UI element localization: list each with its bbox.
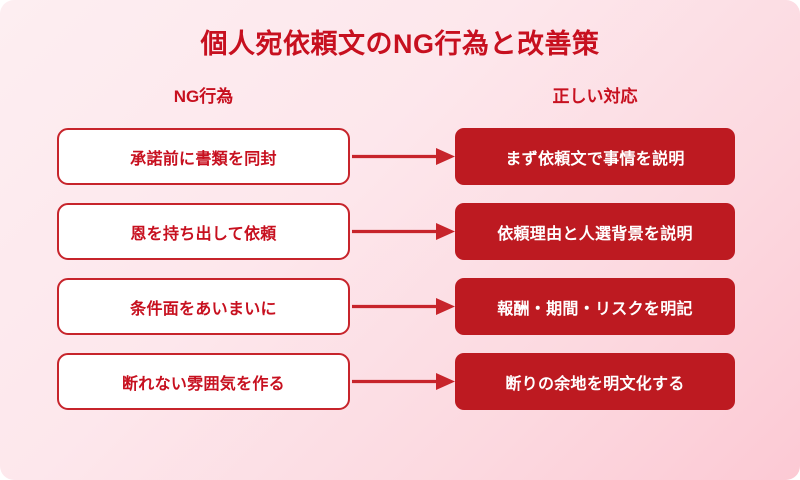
ng-item-label: 断れない雰囲気を作る (122, 370, 285, 394)
comparison-row: 恩を持ち出して依頼 依頼理由と人選背景を説明 (0, 203, 800, 260)
arrow-right-icon (352, 203, 455, 260)
fix-item-box[interactable]: 依頼理由と人選背景を説明 (455, 203, 735, 260)
ng-item-label: 条件面をあいまいに (130, 295, 277, 319)
ng-item-box[interactable]: 恩を持ち出して依頼 (57, 203, 350, 260)
ng-item-label: 恩を持ち出して依頼 (130, 220, 276, 244)
ng-item-box[interactable]: 条件面をあいまいに (57, 278, 350, 335)
fix-item-box[interactable]: まず依頼文で事情を説明 (455, 128, 735, 185)
comparison-row: 断れない雰囲気を作る 断りの余地を明文化する (0, 353, 800, 410)
arrow-right-icon (352, 353, 455, 410)
fix-item-label: 依頼理由と人選背景を説明 (497, 220, 693, 244)
ng-item-box[interactable]: 断れない雰囲気を作る (57, 353, 350, 410)
arrow-right-icon (352, 128, 455, 185)
ng-item-label: 承諾前に書類を同封 (130, 145, 277, 169)
page-title: 個人宛依頼文のNG行為と改善策 (0, 22, 800, 61)
fix-item-label: まず依頼文で事情を説明 (505, 145, 684, 169)
column-header-ng: NG行為 (57, 82, 350, 107)
arrow-right-icon (352, 278, 455, 335)
infographic-canvas: 個人宛依頼文のNG行為と改善策 NG行為 正しい対応 承諾前に書類を同封 まず依… (0, 0, 800, 480)
fix-item-box[interactable]: 報酬・期間・リスクを明記 (455, 278, 735, 335)
column-header-correct: 正しい対応 (455, 82, 735, 107)
comparison-row: 条件面をあいまいに 報酬・期間・リスクを明記 (0, 278, 800, 335)
fix-item-box[interactable]: 断りの余地を明文化する (455, 353, 735, 410)
ng-item-box[interactable]: 承諾前に書類を同封 (57, 128, 350, 185)
fix-item-label: 断りの余地を明文化する (505, 370, 684, 394)
fix-item-label: 報酬・期間・リスクを明記 (497, 295, 693, 319)
comparison-row: 承諾前に書類を同封 まず依頼文で事情を説明 (0, 128, 800, 185)
